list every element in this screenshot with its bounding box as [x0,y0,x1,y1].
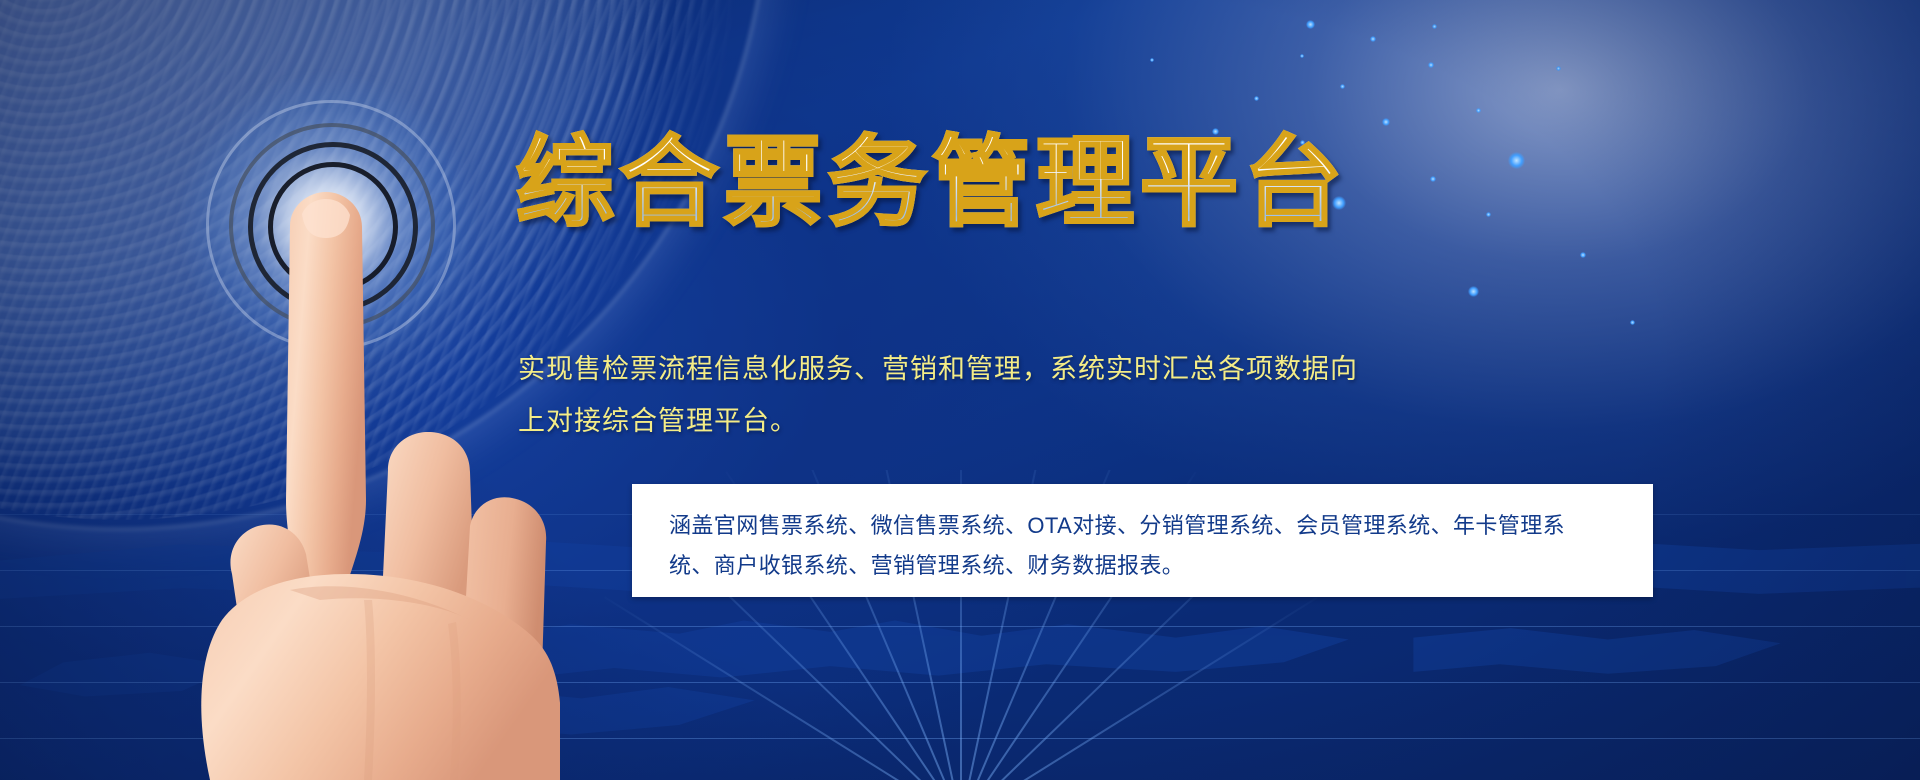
page-title: 综合票务管理平台 [516,131,1348,235]
info-box: 涵盖官网售票系统、微信售票系统、OTA对接、分销管理系统、会员管理系统、年卡管理… [632,484,1653,597]
subtitle-line-2: 上对接综合管理平台。 [518,396,1378,448]
banner-subtitle: 实现售检票流程信息化服务、营销和管理，系统实时汇总各项数据向 上对接综合管理平台… [518,344,1378,448]
banner-stage: 综合票务管理平台 实现售检票流程信息化服务、营销和管理，系统实时汇总各项数据向 … [0,0,1920,780]
subtitle-line-1: 实现售检票流程信息化服务、营销和管理，系统实时汇总各项数据向 [518,344,1378,396]
info-box-text: 涵盖官网售票系统、微信售票系统、OTA对接、分销管理系统、会员管理系统、年卡管理… [669,506,1609,586]
hand-pointing-icon [140,170,560,780]
